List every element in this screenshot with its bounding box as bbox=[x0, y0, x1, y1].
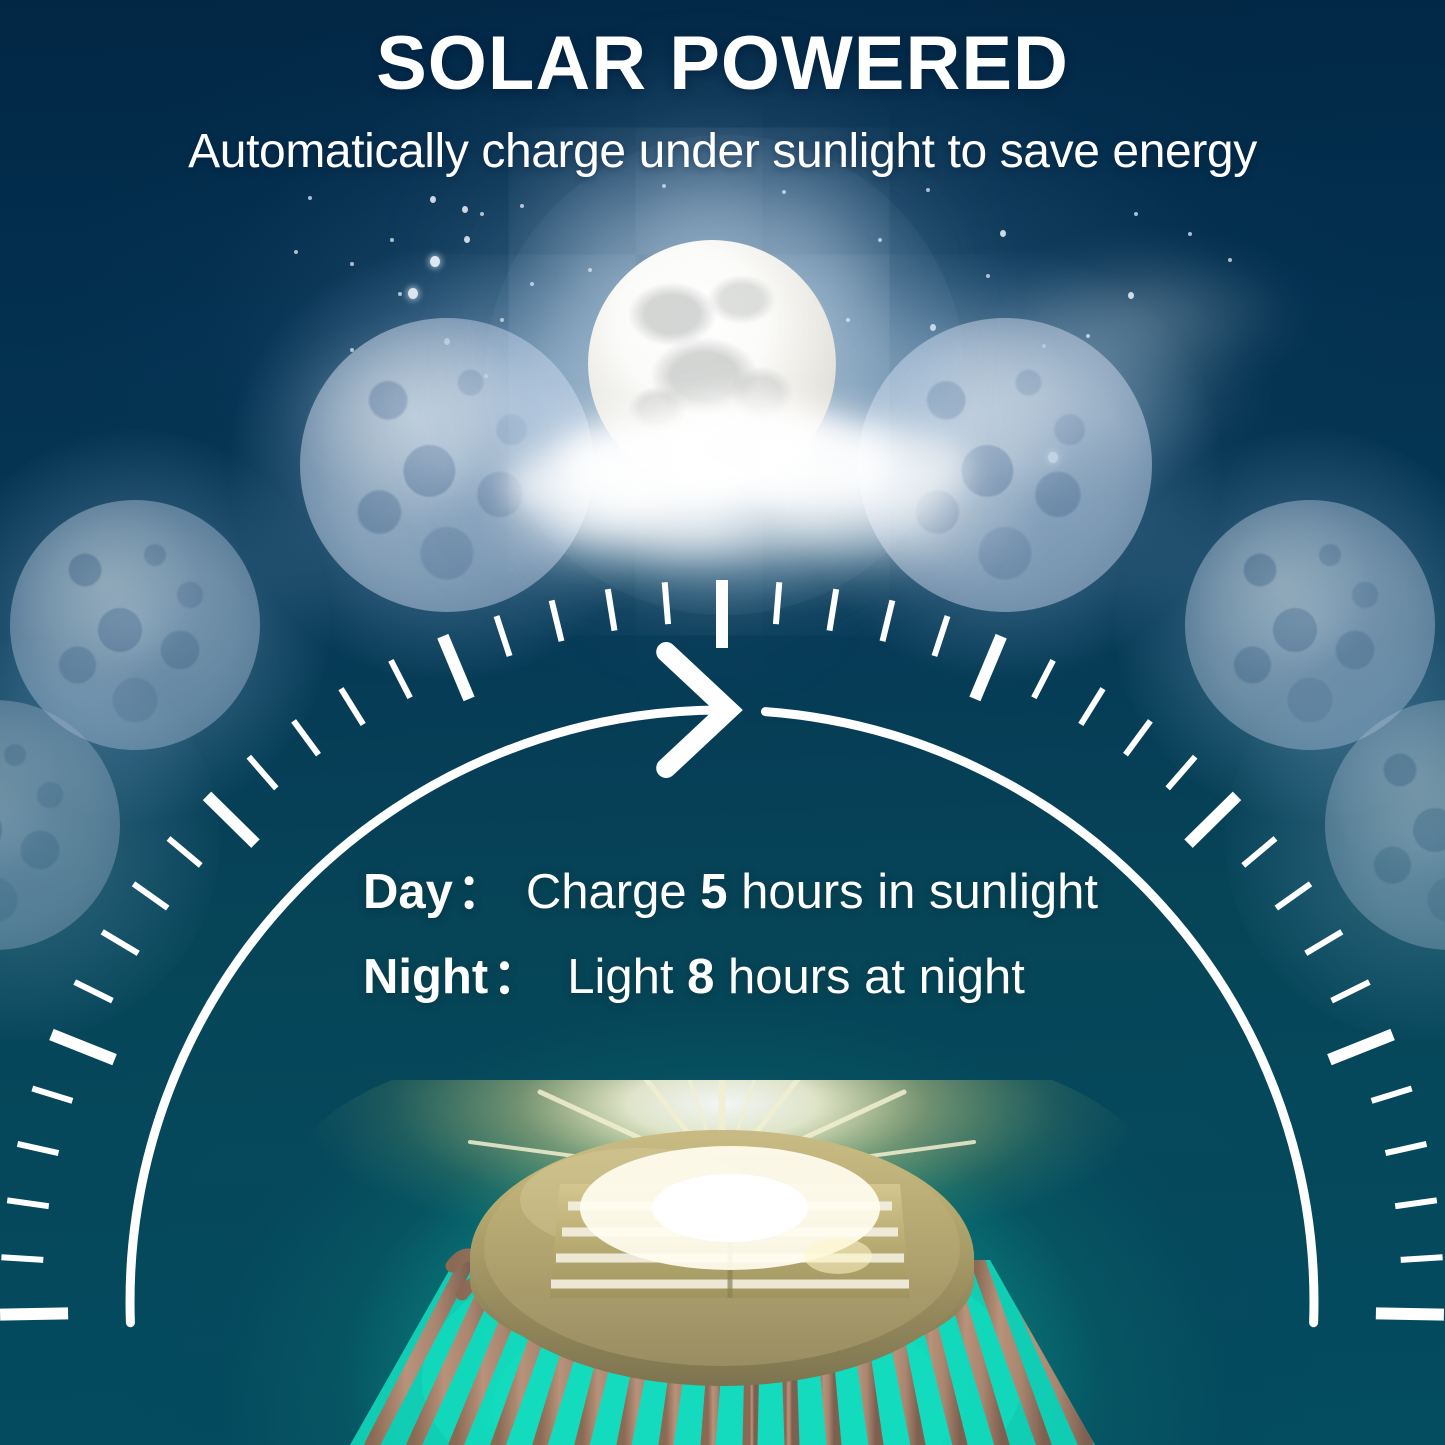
dial-tick-minor bbox=[1306, 932, 1342, 954]
day-label: Day bbox=[363, 868, 453, 917]
dial-tick-minor bbox=[1276, 884, 1310, 908]
night-value: 8 bbox=[687, 950, 714, 1004]
dial-tick-minor bbox=[665, 582, 668, 624]
dial-tick-major bbox=[1189, 796, 1238, 844]
usage-info-block: Day ： Charge 5 hours in sunlight Night ：… bbox=[363, 868, 1123, 1038]
dial-tick-minor bbox=[497, 616, 510, 656]
night-prefix: Light bbox=[567, 950, 687, 1004]
dial-tick-minor bbox=[294, 721, 319, 755]
dial-tick-major bbox=[207, 796, 256, 844]
dial-tick-major bbox=[1329, 1035, 1392, 1060]
dial-tick-minor bbox=[883, 600, 893, 641]
dial-tick-major bbox=[975, 636, 1001, 699]
dial-tick-minor bbox=[1081, 689, 1103, 725]
page-subtitle: Automatically charge under sunlight to s… bbox=[0, 102, 1445, 176]
day-prefix: Charge bbox=[526, 865, 700, 919]
dial-tick-minor bbox=[341, 689, 363, 725]
page-title: SOLAR POWERED bbox=[0, 0, 1445, 102]
info-row-day: Day ： Charge 5 hours in sunlight bbox=[363, 868, 1123, 917]
dial-tick-minor bbox=[552, 600, 562, 641]
night-label: Night bbox=[363, 953, 488, 1002]
dial-tick-minor bbox=[391, 660, 410, 697]
night-description: Light 8 hours at night bbox=[567, 953, 1025, 1002]
day-suffix: hours in sunlight bbox=[728, 865, 1098, 919]
night-suffix: hours at night bbox=[714, 950, 1025, 1004]
dial-tick-major bbox=[51, 1035, 114, 1060]
night-colon: ： bbox=[488, 953, 567, 1002]
dial-tick-minor bbox=[776, 582, 779, 624]
dial-tick-minor bbox=[169, 838, 201, 865]
dial-tick-minor bbox=[134, 884, 168, 908]
dial-tick-minor bbox=[1243, 838, 1275, 865]
dial-tick-minor bbox=[249, 757, 276, 789]
infographic-canvas: SOLAR POWERED Automatically charge under… bbox=[0, 0, 1445, 1445]
dial-tick-minor bbox=[102, 932, 138, 954]
day-value: 5 bbox=[700, 865, 727, 919]
day-colon: ： bbox=[453, 868, 526, 917]
dial-tick-minor bbox=[830, 589, 837, 631]
dial-tick-minor bbox=[1332, 982, 1370, 1001]
solar-lantern-product bbox=[0, 1080, 1445, 1445]
dial-tick-minor bbox=[1126, 721, 1151, 755]
dial-tick-minor bbox=[934, 616, 947, 656]
dial-tick-minor bbox=[1168, 757, 1196, 789]
dial-tick-major bbox=[443, 636, 469, 699]
info-row-night: Night ： Light 8 hours at night bbox=[363, 953, 1123, 1002]
dial-tick-minor bbox=[608, 589, 615, 631]
dial-tick-minor bbox=[75, 982, 113, 1001]
day-description: Charge 5 hours in sunlight bbox=[526, 868, 1098, 917]
header-block: SOLAR POWERED Automatically charge under… bbox=[0, 0, 1445, 176]
dial-tick-minor bbox=[1034, 660, 1053, 697]
